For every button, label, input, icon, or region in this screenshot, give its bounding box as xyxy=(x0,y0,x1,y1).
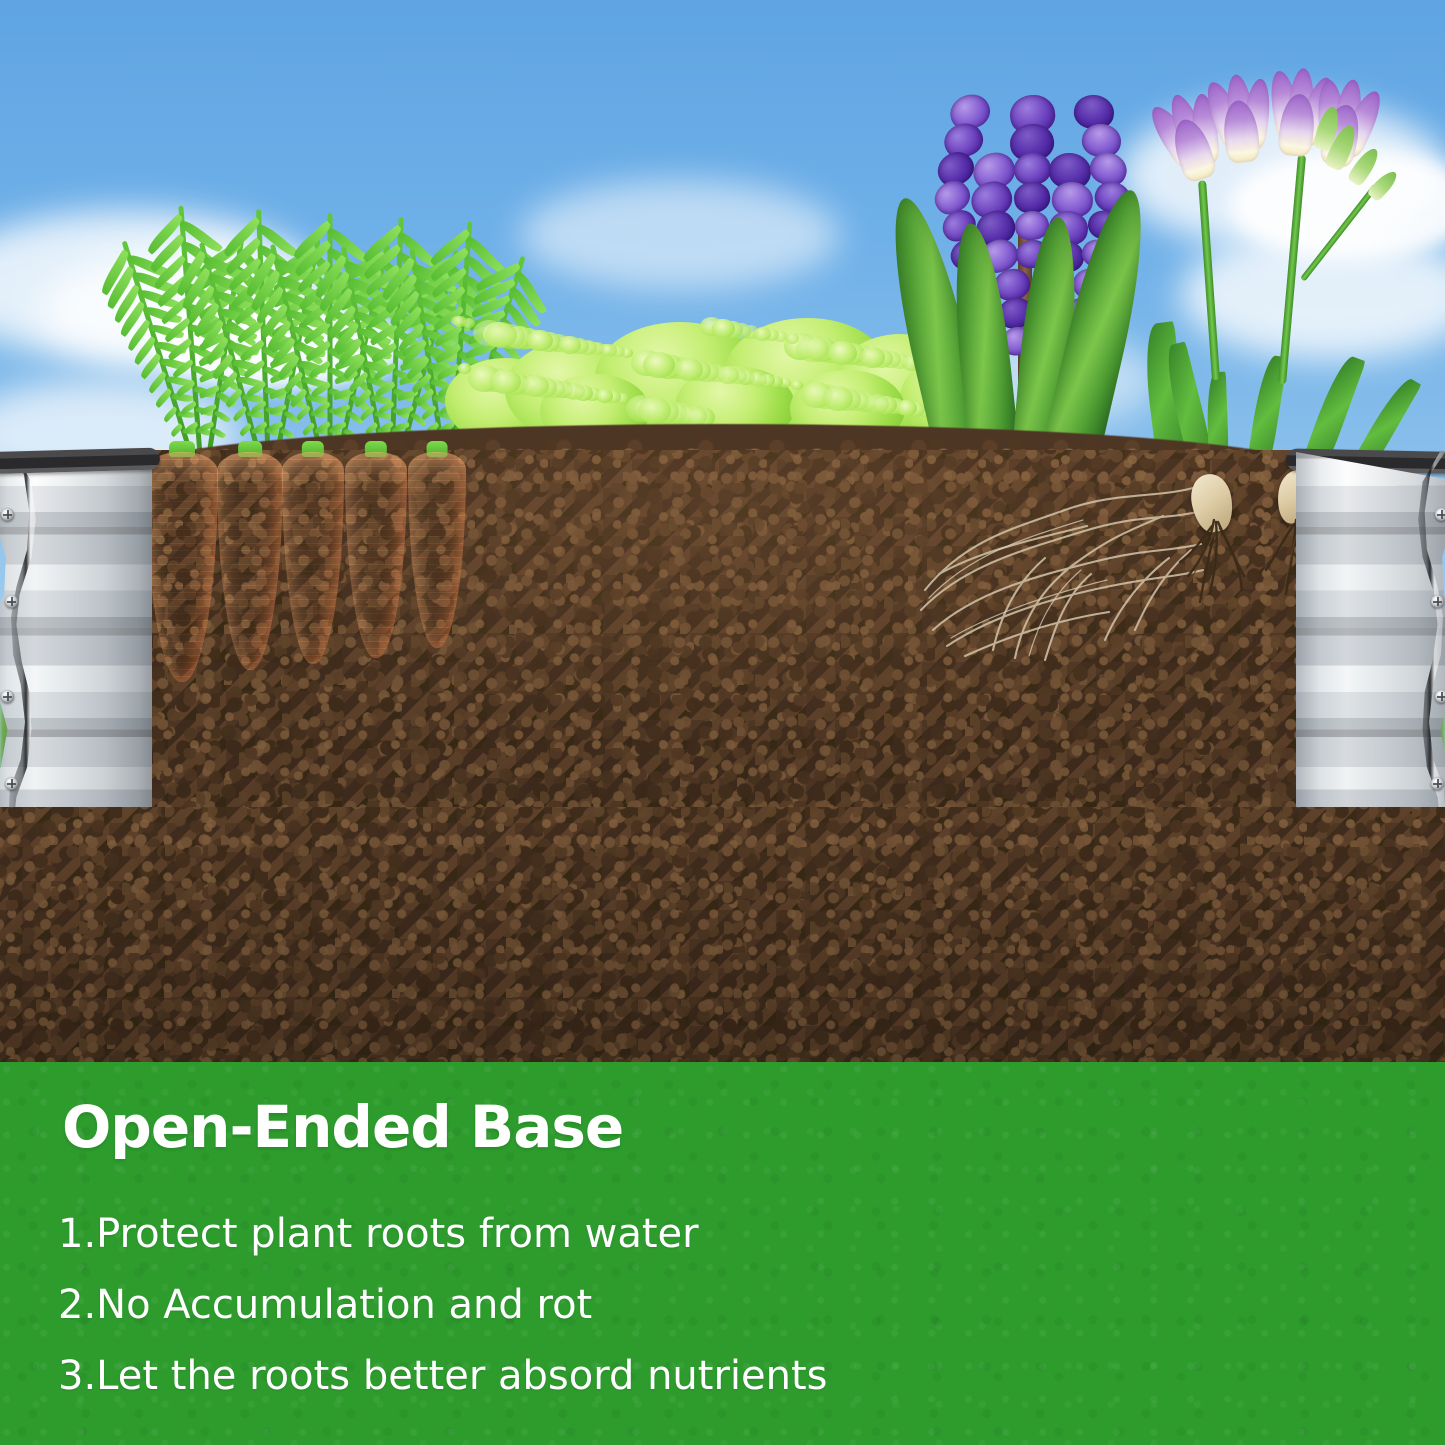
lettuce-frill xyxy=(749,372,767,387)
lettuce-frill xyxy=(717,366,739,384)
carrot-ribs xyxy=(217,452,283,670)
carrot-root xyxy=(146,452,218,682)
freesia-plant xyxy=(1150,72,1445,472)
lettuce-frill xyxy=(796,335,829,362)
carrot-ribs xyxy=(146,452,218,682)
list-item: 1.Protect plant roots from water xyxy=(58,1214,1358,1254)
freesia-stem xyxy=(1278,155,1306,385)
panel-screw xyxy=(1431,595,1444,608)
cloud xyxy=(520,180,840,290)
lettuce-frill xyxy=(601,344,617,357)
carrot-root xyxy=(217,452,283,670)
lettuce-frill xyxy=(596,389,613,403)
lettuce-frill xyxy=(786,333,799,344)
lettuce-frill xyxy=(522,375,549,397)
lettuce-frill xyxy=(485,322,517,348)
freesia-bud xyxy=(1366,168,1400,203)
carrot-root xyxy=(282,452,344,664)
list-item: 3.Let the roots better absord nutrients xyxy=(58,1356,1358,1396)
lettuce-frill xyxy=(559,336,581,354)
carrot-root xyxy=(345,452,407,658)
hyacinth-plant xyxy=(900,75,1160,470)
panel-screw xyxy=(1431,777,1444,790)
lettuce-frill xyxy=(860,347,885,368)
panel-screw xyxy=(1,690,14,703)
panel-screw xyxy=(1435,508,1445,521)
lettuce-frill xyxy=(828,341,857,365)
panel-screw xyxy=(5,595,18,608)
hyacinth-floret xyxy=(1013,180,1052,215)
lettuce-frill xyxy=(754,327,771,341)
lettuce-frill xyxy=(865,394,889,414)
lettuce-frill xyxy=(791,380,803,390)
freesia-stem xyxy=(1300,183,1379,281)
page-title: Open-Ended Base xyxy=(62,1098,623,1156)
carrot-ribs xyxy=(408,452,466,648)
lettuce-frill xyxy=(638,397,671,424)
feature-list: 1.Protect plant roots from water 2.No Ac… xyxy=(58,1214,1358,1427)
bed-panel-right xyxy=(1296,452,1445,827)
bed-rim-left xyxy=(0,448,160,474)
carrot-ribs xyxy=(345,452,407,658)
garden-scene xyxy=(0,0,1445,1062)
list-item: 2.No Accumulation and rot xyxy=(58,1285,1358,1325)
lettuce-frill xyxy=(675,358,703,381)
carrot-root xyxy=(408,452,466,648)
bed-panel-left xyxy=(0,452,152,827)
panel-screw xyxy=(5,777,18,790)
product-feature-image: Open-Ended Base 1.Protect plant roots fr… xyxy=(0,0,1445,1445)
lettuce-frill xyxy=(458,363,471,374)
freesia-stem xyxy=(1198,180,1220,380)
carrot-ribs xyxy=(282,452,344,664)
lettuce-frill xyxy=(823,386,853,411)
panel-screw xyxy=(1,508,14,521)
ground-soil xyxy=(0,807,1445,1062)
panel-screw xyxy=(1435,690,1445,703)
lettuce-frill xyxy=(643,352,675,378)
lettuce-frill xyxy=(712,319,735,338)
